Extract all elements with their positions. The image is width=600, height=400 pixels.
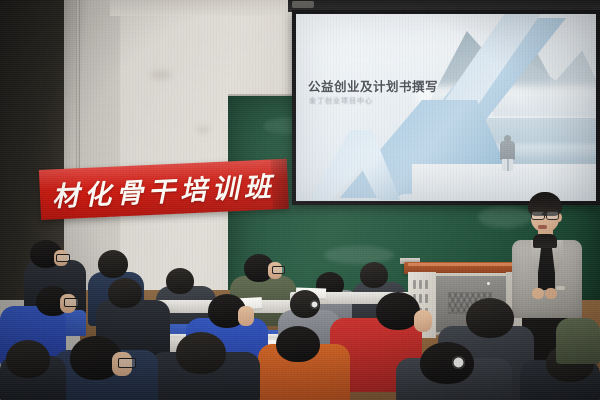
chalk-dust: [324, 246, 394, 264]
screen-roller-bracket: [292, 1, 314, 8]
audience-head: [108, 278, 142, 308]
audience-glasses: [272, 266, 285, 274]
audience-head: [276, 326, 320, 362]
hair-tie: [310, 300, 319, 309]
speaker-brow: [532, 208, 556, 210]
audience-head: [98, 250, 128, 278]
speaker-hand-left: [532, 288, 544, 299]
speaker-mouth: [538, 225, 547, 229]
wall-pipe: [76, 0, 80, 178]
audience-glasses: [64, 298, 79, 307]
podium-indicator-light: [487, 282, 490, 285]
projection-screen: 公益创业及计划书撰写 金丁创业项目中心: [296, 14, 596, 201]
audience-hand-raised: [414, 310, 432, 332]
audience-body: [556, 318, 600, 364]
wall-smudge: [196, 126, 210, 133]
audience-head: [420, 342, 474, 384]
audience-glasses: [118, 358, 136, 368]
speaker-wristwatch: [556, 286, 565, 290]
wall-smudge: [150, 70, 172, 80]
audience-head: [176, 332, 226, 374]
lecture-hall-photo: 公益创业及计划书撰写 金丁创业项目中心 材化骨干培训班: [0, 0, 600, 400]
slide-subtitle: 金丁创业项目中心: [309, 96, 373, 106]
ceiling-strip: [110, 0, 300, 16]
audience-face: [238, 306, 254, 326]
speaker-glasses-bridge: [542, 213, 547, 215]
audience-glasses: [56, 254, 70, 262]
audience-head: [360, 262, 388, 288]
hair-tie: [452, 356, 465, 369]
chalk-dust: [478, 206, 532, 228]
slide-title: 公益创业及计划书撰写: [308, 76, 438, 95]
speaker-hand-right: [545, 288, 557, 299]
projector-vignette: [296, 14, 596, 201]
audience-head: [166, 268, 194, 294]
speaker-turtleneck: [533, 234, 557, 248]
audience-head: [6, 340, 50, 378]
speaker-glasses-right-lens: [546, 211, 559, 220]
audience-head: [466, 298, 514, 338]
